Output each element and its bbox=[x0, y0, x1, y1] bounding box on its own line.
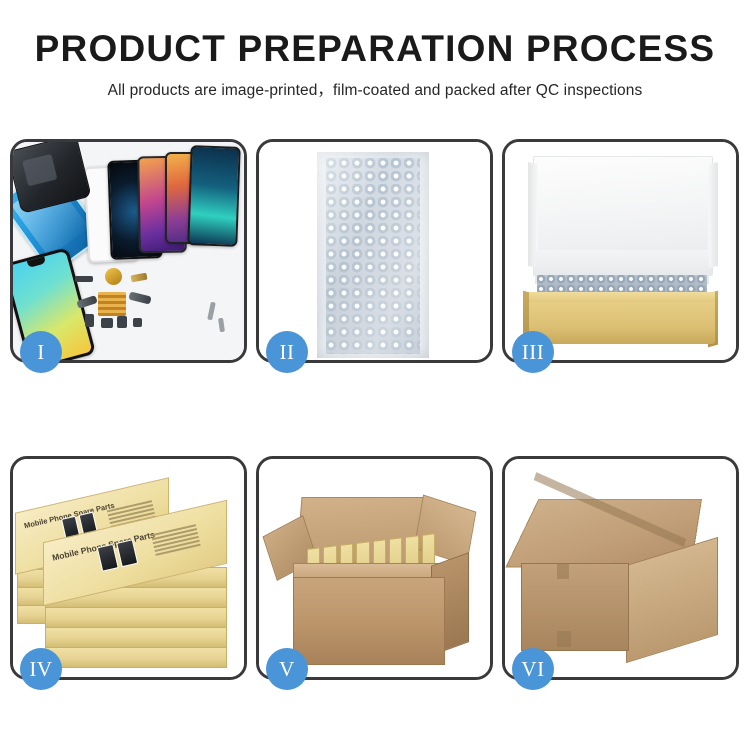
step-card-iv[interactable]: Mobile Phone Spare Parts Mobile Phone Sp… bbox=[10, 456, 247, 680]
step-card-i[interactable]: I bbox=[10, 139, 247, 363]
step-ii-photo bbox=[259, 142, 490, 360]
bubble-wrap-sheen bbox=[317, 152, 429, 358]
step-v-photo bbox=[259, 459, 490, 677]
page-subtitle: All products are image-printed，film-coat… bbox=[0, 78, 750, 100]
step-badge-ii: II bbox=[266, 331, 308, 373]
spare-part-small-a bbox=[85, 314, 94, 327]
sealed-carton-front-panel bbox=[521, 563, 629, 651]
spare-part-gold-coil bbox=[105, 268, 122, 285]
bubble-wrap-pouch bbox=[317, 152, 429, 358]
process-steps-grid: I II III bbox=[10, 139, 740, 680]
page-title: PRODUCT PREPARATION PROCESS bbox=[0, 30, 750, 69]
step-iii-photo bbox=[505, 142, 736, 360]
retail-box-front-5 bbox=[45, 647, 227, 668]
page-header: PRODUCT PREPARATION PROCESS All products… bbox=[0, 0, 750, 100]
step-badge-vi: VI bbox=[512, 648, 554, 690]
step-badge-i: I bbox=[20, 331, 62, 373]
spare-part-small-d bbox=[133, 318, 142, 327]
sealed-carton-tape-bottom bbox=[557, 631, 571, 647]
step-badge-iii: III bbox=[512, 331, 554, 373]
step-i-photo bbox=[13, 142, 244, 360]
step-iv-photo: Mobile Phone Spare Parts Mobile Phone Sp… bbox=[13, 459, 244, 677]
sealed-carton-tape-front bbox=[557, 563, 569, 579]
spare-part-flex-cable-right bbox=[128, 291, 151, 304]
carton-front-panel bbox=[293, 577, 445, 665]
step-card-v[interactable]: V bbox=[256, 456, 493, 680]
spare-part-screwdriver bbox=[207, 302, 216, 321]
spare-part-small-b bbox=[101, 318, 113, 328]
spare-part-small-c bbox=[117, 316, 127, 328]
spare-part-connector-grid bbox=[98, 292, 126, 316]
step-vi-photo bbox=[505, 459, 736, 677]
step-card-vi[interactable]: VI bbox=[502, 456, 739, 680]
step-badge-iv: IV bbox=[20, 648, 62, 690]
spare-part-tweezer bbox=[218, 318, 225, 333]
retail-box-front-4 bbox=[45, 627, 227, 648]
spare-part-bar bbox=[75, 276, 93, 282]
step-badge-v: V bbox=[266, 648, 308, 690]
retail-box-front-3 bbox=[45, 607, 227, 628]
inner-box-kraft-base bbox=[529, 300, 715, 344]
retail-box-stack: Mobile Phone Spare Parts Mobile Phone Sp… bbox=[13, 459, 244, 677]
phone-screen-teal bbox=[187, 145, 240, 247]
step-card-ii[interactable]: II bbox=[256, 139, 493, 363]
step-card-iii[interactable]: III bbox=[502, 139, 739, 363]
spare-part-gold-strip bbox=[131, 273, 148, 283]
